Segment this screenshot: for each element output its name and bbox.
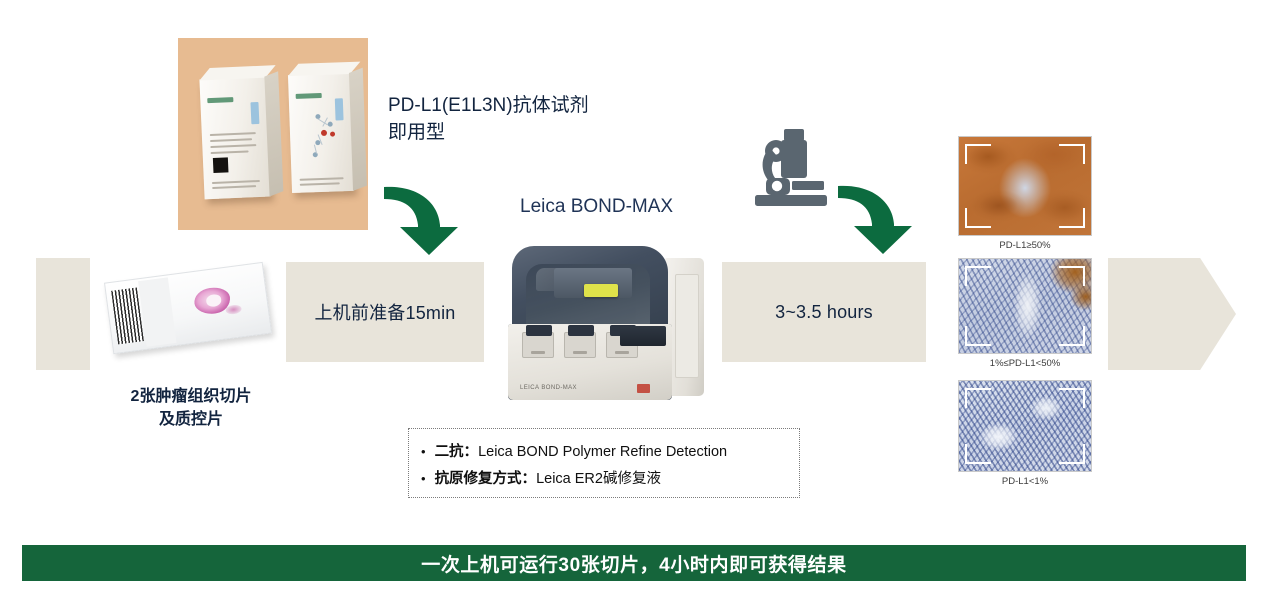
step-box-prep: 上机前准备15min bbox=[286, 262, 484, 362]
callout-item-1-value: Leica ER2碱修复液 bbox=[536, 466, 661, 493]
step-label-run: 3~3.5 hours bbox=[775, 302, 873, 323]
scale-bracket-overlay bbox=[965, 388, 1085, 464]
step-label-prep: 上机前准备15min bbox=[314, 299, 455, 325]
workflow-end-chevron bbox=[1108, 258, 1236, 370]
specimen-caption-line2: 及质控片 bbox=[96, 408, 286, 431]
pd-l1-antibody-reagent-boxes-photo bbox=[178, 38, 368, 230]
specimen-caption: 2张肿瘤组织切片 及质控片 bbox=[96, 385, 286, 431]
ihc-caption-high: PD-L1≥50% bbox=[958, 240, 1092, 251]
reagent-heading-line2: 即用型 bbox=[388, 120, 648, 147]
instrument-title: Leica BOND-MAX bbox=[520, 196, 673, 218]
callout-item-0-label: 二抗： bbox=[435, 439, 479, 466]
ihc-image-moderate bbox=[958, 258, 1092, 354]
ihc-caption-high-wrap: PD-L1≥50% bbox=[958, 240, 1092, 251]
curved-arrow-to-results-icon bbox=[836, 164, 932, 256]
reagent-heading-line1: PD-L1(E1L3N)抗体试剂 bbox=[388, 93, 648, 120]
summary-banner: 一次上机可运行30张切片，4小时内即可获得结果 bbox=[22, 545, 1246, 581]
callout-item-antigen-retrieval: • 抗原修复方式： Leica ER2碱修复液 bbox=[421, 466, 785, 493]
reagent-details-callout: • 二抗： Leica BOND Polymer Refine Detectio… bbox=[408, 428, 800, 498]
ihc-caption-negative-wrap: PD-L1<1% bbox=[958, 476, 1092, 487]
curved-arrow-to-prep-icon bbox=[382, 165, 478, 257]
callout-item-1-label: 抗原修复方式： bbox=[435, 466, 537, 493]
callout-item-0-value: Leica BOND Polymer Refine Detection bbox=[478, 439, 727, 466]
microscope-icon bbox=[748, 126, 834, 210]
leica-bond-max-stainer-photo: LEICA BOND-MAX bbox=[508, 240, 704, 404]
ihc-image-high bbox=[958, 136, 1092, 236]
bullet-icon: • bbox=[421, 440, 426, 464]
workflow-diagram: PD-L1(E1L3N)抗体试剂 即用型 2张肿瘤组织切片 及质控片 上机前准备… bbox=[0, 0, 1267, 589]
specimen-caption-line1: 2张肿瘤组织切片 bbox=[96, 385, 286, 408]
ihc-caption-moderate: 1%≤PD-L1<50% bbox=[958, 358, 1092, 369]
tumor-tissue-glass-slide-photo bbox=[108, 272, 268, 344]
callout-item-secondary-antibody: • 二抗： Leica BOND Polymer Refine Detectio… bbox=[421, 439, 785, 466]
ihc-caption-negative: PD-L1<1% bbox=[958, 476, 1092, 487]
ihc-image-negative bbox=[958, 380, 1092, 472]
ihc-caption-moderate-wrap: 1%≤PD-L1<50% bbox=[958, 358, 1092, 369]
scale-bracket-overlay bbox=[965, 266, 1085, 346]
reagent-heading: PD-L1(E1L3N)抗体试剂 即用型 bbox=[388, 93, 648, 147]
scale-bracket-overlay bbox=[965, 144, 1085, 228]
workflow-start-block bbox=[36, 258, 90, 370]
summary-banner-text: 一次上机可运行30张切片，4小时内即可获得结果 bbox=[421, 550, 847, 577]
step-box-run: 3~3.5 hours bbox=[722, 262, 926, 362]
bullet-icon: • bbox=[421, 467, 426, 491]
